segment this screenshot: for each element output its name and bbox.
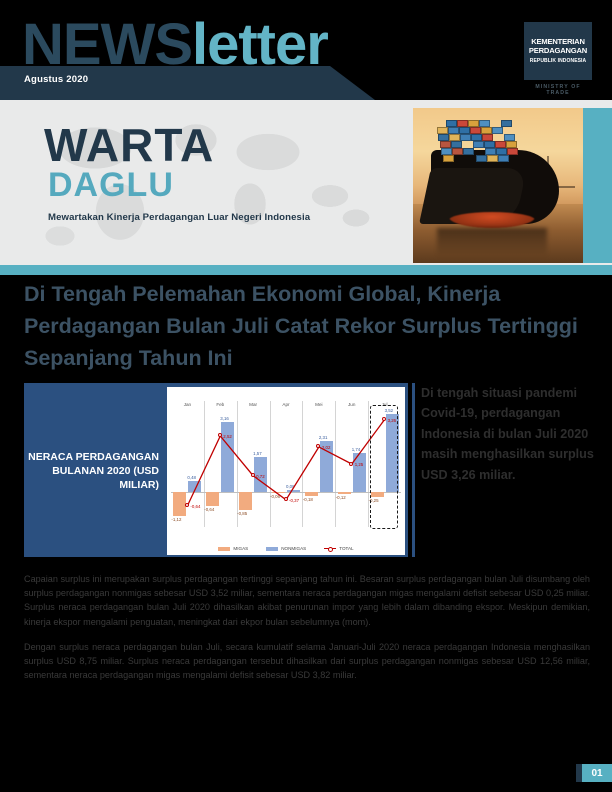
container-box: [504, 134, 515, 141]
container-box: [501, 120, 512, 127]
container-box: [460, 134, 471, 141]
container-box: [482, 134, 493, 141]
chart-legend-item: NONMIGAS: [266, 546, 306, 551]
wordmark-news: NEWS: [22, 12, 192, 77]
container-box: [438, 134, 449, 141]
container-box: [487, 155, 498, 162]
legend-label: MIGAS: [233, 546, 248, 551]
ship-bow-waterline: [449, 212, 535, 228]
legend-swatch-icon: [218, 547, 230, 551]
chart-total-marker: [349, 462, 353, 466]
logo-caption: MINISTRY OF TRADE: [524, 84, 592, 96]
container-box: [448, 127, 459, 134]
chart-highlight-box: [370, 405, 398, 529]
article-body: Capaian surplus ini merupakan surplus pe…: [24, 572, 590, 693]
chart-value-label-total: -0,64: [190, 504, 200, 509]
container-box: [473, 141, 484, 148]
wordmark-letter: letter: [192, 12, 328, 77]
container-box: [437, 127, 448, 134]
masthead-wordmark: NEWSletter: [22, 16, 328, 74]
issue-date: Agustus 2020: [24, 74, 88, 85]
chart-value-label-total: -0,37: [289, 498, 299, 503]
container-box: [479, 120, 490, 127]
chart-value-label-total: 1,25: [355, 462, 364, 467]
container-box: [440, 141, 451, 148]
container-box: [452, 148, 463, 155]
page-title: Di Tengah Pelemahan Ekonomi Global, Kine…: [24, 278, 590, 374]
chart-plot-area: Jan-1,120,48Feb-0,643,16Mar-0,851,57Apr-…: [171, 401, 401, 527]
container-box: [441, 148, 452, 155]
masthead: NEWSletter Agustus 2020 KEMENTERIAN PERD…: [0, 0, 612, 100]
chart-value-label-total: 2,02: [322, 445, 331, 450]
chart-canvas: Jan-1,120,48Feb-0,643,16Mar-0,851,57Apr-…: [167, 387, 405, 555]
container-box: [443, 155, 454, 162]
container-box: [492, 127, 503, 134]
chart-panel: NERACA PERDAGANGAN BULANAN 2020 (USD MIL…: [24, 383, 408, 557]
chart-legend-item: TOTAL: [324, 546, 353, 551]
page-number: 01: [582, 764, 612, 782]
container-box: [459, 127, 470, 134]
container-box: [457, 120, 468, 127]
container-ship-photo: [413, 108, 583, 263]
chart-value-label-total: 0,72: [256, 474, 265, 479]
logo-line-3: REPUBLIK INDONESIA: [530, 58, 587, 64]
teal-divider: [0, 265, 612, 275]
chart-caption: NERACA PERDAGANGAN BULANAN 2020 (USD MIL…: [25, 384, 167, 558]
container-box: [446, 120, 457, 127]
legend-swatch-icon: [266, 547, 278, 551]
container-box: [470, 127, 481, 134]
container-box: [484, 141, 495, 148]
legend-label: NONMIGAS: [281, 546, 306, 551]
container-box: [451, 141, 462, 148]
logo-line-2: PERDAGANGAN: [529, 47, 587, 55]
chart-legend: MIGASNONMIGASTOTAL: [167, 546, 405, 551]
hero-title: WARTA: [44, 122, 214, 168]
paragraph-1: Capaian surplus ini merupakan surplus pe…: [24, 572, 590, 629]
water-reflection: [437, 228, 547, 256]
container-box: [498, 155, 509, 162]
container-box: [506, 141, 517, 148]
shipping-containers: [435, 120, 515, 162]
chart-total-marker: [251, 473, 255, 477]
legend-swatch-icon: [324, 547, 336, 551]
chart-total-marker: [284, 497, 288, 501]
hero-teal-block: [583, 108, 612, 263]
container-box: [496, 148, 507, 155]
hero-subtitle: DAGLU: [48, 168, 174, 202]
chart-total-line: [171, 401, 401, 527]
ministry-logo: KEMENTERIAN PERDAGANGAN REPUBLIK INDONES…: [524, 22, 592, 80]
container-box: [471, 134, 482, 141]
chart-value-label-total: 2,52: [223, 434, 232, 439]
paragraph-2: Dengan surplus neraca perdagangan bulan …: [24, 640, 590, 683]
hero-tagline: Mewartakan Kinerja Perdagangan Luar Nege…: [48, 212, 310, 223]
container-box: [449, 134, 460, 141]
pull-quote: Di tengah situasi pandemi Covid-19, perd…: [412, 383, 612, 557]
legend-label: TOTAL: [339, 546, 353, 551]
container-box: [481, 127, 492, 134]
container-box: [476, 155, 487, 162]
container-box: [507, 148, 518, 155]
container-box: [495, 141, 506, 148]
container-box: [463, 148, 474, 155]
container-box: [485, 148, 496, 155]
chart-legend-item: MIGAS: [218, 546, 248, 551]
container-box: [468, 120, 479, 127]
newsletter-page: NEWSletter Agustus 2020 KEMENTERIAN PERD…: [0, 0, 612, 792]
